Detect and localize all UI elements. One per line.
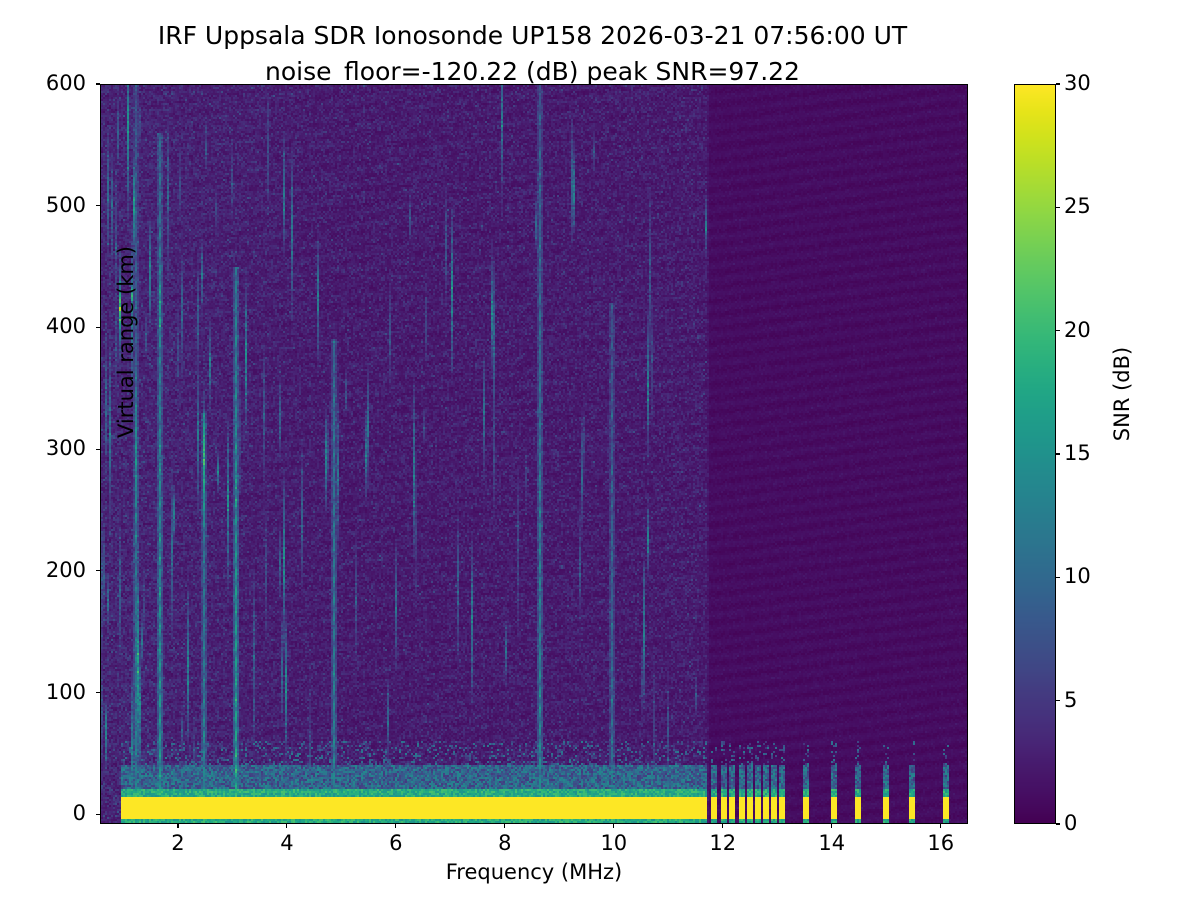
y-tick-label: 300 <box>6 438 86 459</box>
colorbar-tick-mark <box>1056 83 1060 84</box>
colorbar-tick-label: 25 <box>1064 196 1134 217</box>
x-tick-mark <box>722 824 723 828</box>
x-tick-label: 4 <box>257 833 317 854</box>
x-tick-mark <box>286 824 287 828</box>
y-tick-mark <box>96 814 100 815</box>
y-tick-mark <box>96 83 100 84</box>
title-line-1: IRF Uppsala SDR Ionosonde UP158 2026-03-… <box>0 0 1065 54</box>
y-tick-label: 200 <box>6 560 86 581</box>
y-tick-label: 600 <box>6 73 86 94</box>
colorbar-tick-mark <box>1056 453 1060 454</box>
x-tick-label: 2 <box>148 833 208 854</box>
y-tick-label: 100 <box>6 682 86 703</box>
colorbar-tick-mark <box>1056 700 1060 701</box>
colorbar-tick-mark <box>1056 330 1060 331</box>
x-tick-label: 12 <box>693 833 753 854</box>
y-tick-label: 500 <box>6 195 86 216</box>
y-tick-mark <box>96 692 100 693</box>
colorbar-tick-label: 10 <box>1064 566 1134 587</box>
x-tick-mark <box>395 824 396 828</box>
colorbar-label: SNR (dB) <box>1110 274 1134 514</box>
colorbar <box>1014 84 1056 824</box>
x-tick-label: 14 <box>802 833 862 854</box>
plot-axes <box>100 84 968 824</box>
figure-title: IRF Uppsala SDR Ionosonde UP158 2026-03-… <box>0 0 1065 90</box>
y-tick-mark <box>96 205 100 206</box>
colorbar-tick-mark <box>1056 577 1060 578</box>
x-tick-label: 16 <box>911 833 971 854</box>
colorbar-gradient <box>1015 85 1055 823</box>
x-tick-mark <box>940 824 941 828</box>
colorbar-tick-mark <box>1056 207 1060 208</box>
x-tick-mark <box>504 824 505 828</box>
y-tick-mark <box>96 327 100 328</box>
colorbar-tick-label: 5 <box>1064 690 1134 711</box>
y-tick-mark <box>96 570 100 571</box>
colorbar-tick-mark <box>1056 823 1060 824</box>
y-axis-label: Virtual range (km) <box>114 212 138 472</box>
y-tick-mark <box>96 449 100 450</box>
x-tick-label: 8 <box>475 833 535 854</box>
colorbar-tick-label: 30 <box>1064 73 1134 94</box>
x-tick-label: 10 <box>584 833 644 854</box>
y-tick-label: 400 <box>6 316 86 337</box>
colorbar-tick-label: 0 <box>1064 813 1134 834</box>
x-tick-mark <box>613 824 614 828</box>
x-tick-mark <box>831 824 832 828</box>
y-tick-label: 0 <box>6 803 86 824</box>
ionogram-heatmap <box>101 85 967 823</box>
x-tick-mark <box>177 824 178 828</box>
x-tick-label: 6 <box>366 833 426 854</box>
x-axis-label: Frequency (MHz) <box>100 860 968 884</box>
ionogram-figure: IRF Uppsala SDR Ionosonde UP158 2026-03-… <box>0 0 1200 900</box>
